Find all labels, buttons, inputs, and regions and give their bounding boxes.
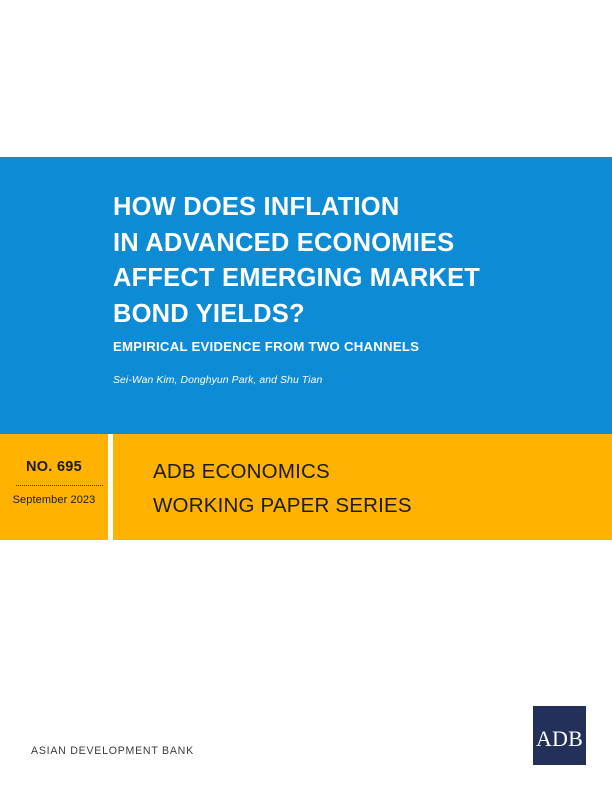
title-band: HOW DOES INFLATION IN ADVANCED ECONOMIES… [0, 157, 612, 434]
title-band-content: HOW DOES INFLATION IN ADVANCED ECONOMIES… [113, 157, 612, 434]
organization-name: ASIAN DEVELOPMENT BANK [31, 745, 194, 757]
series-band: NO. 695 September 2023 ADB ECONOMICS WOR… [0, 434, 612, 540]
publication-date: September 2023 [0, 494, 108, 506]
author-list: Sei-Wan Kim, Donghyun Park, and Shu Tian [113, 375, 583, 386]
series-title-block: ADB ECONOMICS WORKING PAPER SERIES [113, 434, 612, 540]
document-cover-page: HOW DOES INFLATION IN ADVANCED ECONOMIES… [0, 0, 612, 791]
page-title: HOW DOES INFLATION IN ADVANCED ECONOMIES… [113, 190, 583, 332]
series-number: NO. 695 [0, 459, 108, 475]
adb-logo-text: ADB [533, 728, 586, 750]
series-number-block: NO. 695 September 2023 [0, 434, 108, 540]
dotted-divider [16, 485, 103, 486]
series-title: ADB ECONOMICS WORKING PAPER SERIES [153, 455, 412, 523]
adb-logo: ADB [533, 706, 586, 765]
page-subtitle: EMPIRICAL EVIDENCE FROM TWO CHANNELS [113, 339, 583, 354]
